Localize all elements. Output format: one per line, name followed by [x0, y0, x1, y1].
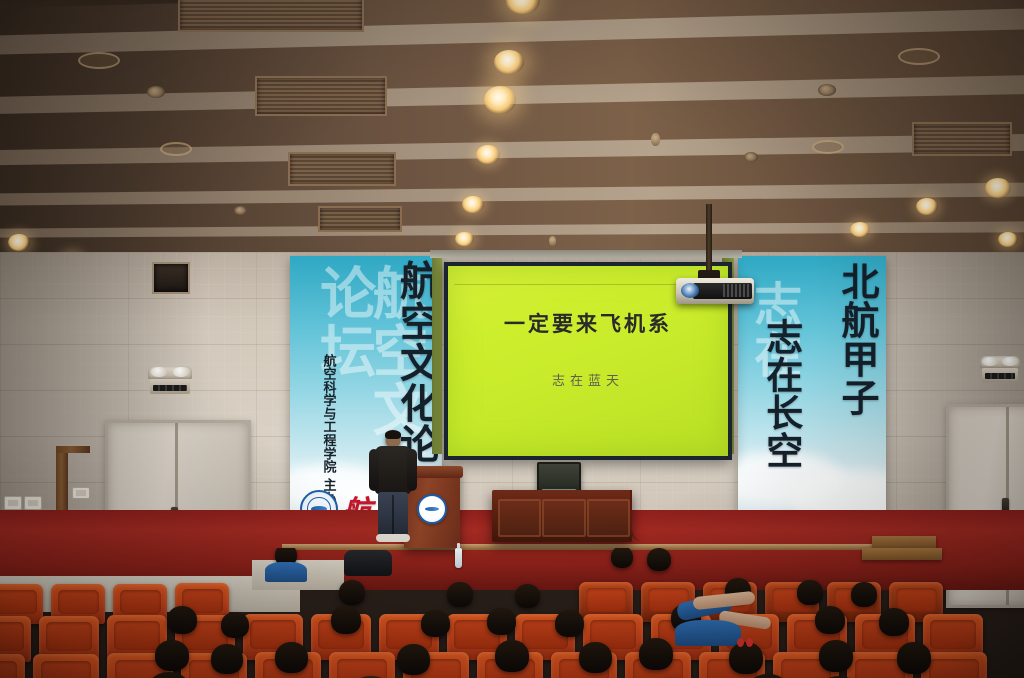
audience-head — [745, 674, 791, 678]
ceiling-fixture — [898, 48, 940, 65]
seat-row — [0, 672, 1024, 678]
ceiling-light — [484, 86, 516, 114]
audience-head — [555, 610, 584, 637]
banner-left-sub-text: 航空科学与工程学院 主办 — [320, 354, 335, 505]
ceiling — [0, 0, 1024, 262]
hair-bow — [737, 638, 753, 647]
ceiling-light — [998, 232, 1018, 247]
audience-head — [611, 548, 633, 568]
audience-head — [819, 640, 853, 672]
audience-head — [211, 644, 243, 674]
podium-emblem-icon — [417, 494, 447, 524]
ceiling-light — [850, 222, 870, 237]
projector-pole — [706, 204, 712, 274]
audience-head — [647, 548, 671, 571]
audience-head — [331, 606, 361, 634]
audience-head — [155, 640, 189, 671]
smoke-detector — [234, 206, 247, 215]
ceiling-light — [916, 198, 938, 215]
audience-head — [879, 608, 909, 636]
screen-side-edge — [432, 258, 442, 454]
audience-head — [421, 610, 450, 637]
ceiling-fixture — [160, 142, 192, 156]
ceiling-vent — [178, 0, 364, 32]
ceiling-light — [476, 145, 500, 164]
audience-head — [487, 608, 516, 635]
audience-head — [167, 606, 197, 634]
banner-right-main-text: 北航甲子 — [837, 262, 876, 417]
power-cable — [630, 490, 644, 542]
ceiling-light — [985, 178, 1011, 198]
ceiling-light — [8, 234, 30, 251]
presenter — [372, 431, 414, 543]
sprinkler-head — [549, 236, 556, 246]
smoke-detector — [744, 152, 758, 162]
ceiling-vent — [318, 206, 402, 232]
audience-head — [275, 642, 308, 673]
emergency-light — [148, 366, 192, 394]
stage-table — [492, 490, 632, 542]
ceiling-vent — [255, 76, 387, 116]
wall-label — [72, 487, 90, 499]
side-door-frame — [56, 446, 90, 453]
ceiling-vent — [912, 122, 1012, 156]
audience-head — [639, 638, 673, 670]
screen-rail — [430, 250, 742, 258]
ceiling-fixture — [812, 140, 844, 154]
audience-head — [579, 642, 612, 673]
audience-seating — [0, 548, 1024, 678]
sprinkler-head — [651, 133, 660, 146]
slide-subtitle: 志在蓝天 — [448, 370, 728, 389]
light-switch[interactable] — [4, 496, 22, 510]
audience-head — [897, 642, 931, 674]
smoke-detector — [818, 84, 836, 96]
audience-head — [815, 606, 845, 634]
ceiling-projector — [676, 278, 754, 304]
stage-step — [872, 536, 936, 548]
ceiling-light — [455, 232, 474, 246]
ceiling-vent — [288, 152, 396, 186]
audience-head — [147, 672, 191, 678]
ceiling-light — [494, 50, 524, 74]
audience-head — [397, 644, 430, 675]
banner-right: 志在 北航甲子 志在长空 — [738, 256, 886, 530]
auditorium-photo: 航空文化论坛 航空文化论坛 航空科学与工程学院 主办 航 志在 北航甲子 志在长… — [0, 0, 1024, 678]
ceiling-fixture — [78, 52, 120, 69]
ceiling-light — [462, 196, 484, 213]
wall-speaker — [152, 262, 190, 294]
banner-right-second-text: 志在长空 — [762, 318, 800, 469]
slide-title: 一定要来飞机系 — [448, 308, 728, 338]
emergency-light — [980, 356, 1020, 382]
audience-head — [495, 640, 529, 672]
light-switch[interactable] — [24, 496, 42, 510]
smoke-detector — [147, 86, 165, 98]
